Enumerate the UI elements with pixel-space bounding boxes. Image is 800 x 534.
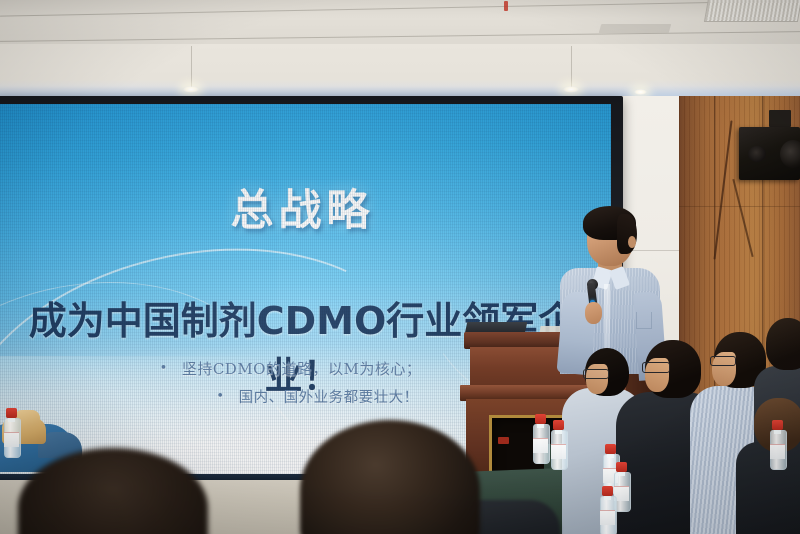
bottle-cap-icon [553,420,564,430]
bottle-label [533,438,548,453]
downlight-icon [183,86,199,93]
glasses-icon [710,356,736,366]
podium-indicator [498,437,509,444]
presenter-shirt-pocket [636,312,652,329]
downlight-icon [563,86,579,93]
bottle-cap-icon [605,444,616,454]
water-bottle [600,486,615,534]
ceiling-vent-icon [704,0,800,22]
glasses-icon [642,362,670,373]
audience-member-4-head [766,318,800,370]
speaker-cone-icon [780,140,800,168]
speaker-tweeter-icon [748,146,766,162]
water-bottle [770,420,785,468]
bottle-label [600,510,615,525]
bottle-cap-icon [602,486,613,496]
ceiling-vent-secondary-icon [599,24,672,33]
audience-member-5-body [736,442,800,534]
water-bottle [4,408,19,456]
presenter-hand [585,302,602,324]
bottle-label [4,432,19,447]
presenter-hair-side [617,214,637,254]
downlight-icon [634,89,647,95]
presentation-photo: 总战略 成为中国制剂CDMO行业领军企业！ •坚持CDMO的道路，以M为核心； … [0,0,800,534]
ceiling-marker [504,1,508,11]
bottle-cap-icon [535,414,546,424]
bottle-label [770,444,785,459]
bottle-cap-icon [6,408,17,418]
bottle-cap-icon [616,462,627,472]
bottle-cap-icon [772,420,783,430]
speaker-bracket-icon [769,110,791,127]
glasses-icon [583,369,609,379]
water-bottle [533,414,548,462]
water-bottle [551,420,566,468]
presenter-ear [628,236,636,248]
bottle-label [551,444,566,459]
